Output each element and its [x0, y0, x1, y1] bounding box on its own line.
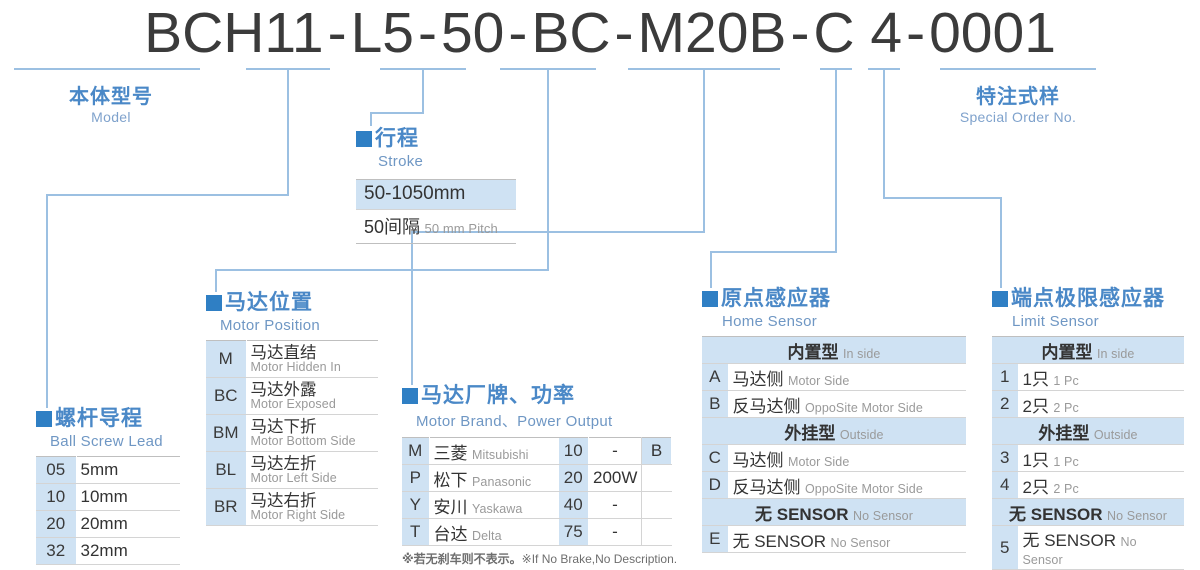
limit-sensor-heading: 端点极限感应器	[992, 282, 1184, 312]
limit-sensor-group-label: 外挂型 Outside	[992, 418, 1184, 445]
motor-brand-code: Y	[402, 492, 429, 519]
section-home-sensor: 原点感应器 Home Sensor 内置型 In sideA马达侧 Motor …	[702, 282, 966, 553]
home-sensor-code: B	[702, 391, 728, 418]
motor-brand-footnote-en: ※If No Brake,No Description.	[522, 552, 677, 566]
code-segment-model: BCH11	[144, 0, 324, 66]
limit-sensor-code: 2	[992, 391, 1018, 418]
code-segment-stroke: 50	[441, 0, 504, 66]
motor-position-code: BR	[206, 489, 246, 526]
code-separator: -	[786, 0, 813, 66]
table-row[interactable]: E无 SENSOR No Sensor	[702, 526, 966, 553]
table-row[interactable]: A马达侧 Motor Side	[702, 364, 966, 391]
code-separator: -	[902, 0, 929, 66]
stroke-pitch-row: 50间隔 50 mm Pitch	[356, 210, 516, 244]
home-sensor-desc: 无 SENSOR No Sensor	[728, 526, 966, 553]
code-separator: -	[324, 0, 351, 66]
limit-sensor-desc: 1只 1 Pc	[1018, 364, 1184, 391]
home-sensor-code: C	[702, 445, 728, 472]
stroke-label-en: Stroke	[378, 153, 516, 170]
table-banner-row: 外挂型 Outside	[992, 418, 1184, 445]
motor-power-code: 75	[559, 519, 589, 546]
motor-position-code: BC	[206, 378, 246, 415]
table-row[interactable]: 1010mm	[36, 484, 180, 511]
motor-position-label-en: Motor Position	[220, 317, 378, 334]
motor-power-code: 40	[559, 492, 589, 519]
table-row[interactable]: B反马达侧 OppoSite Motor Side	[702, 391, 966, 418]
table-banner-row: 内置型 In side	[702, 337, 966, 364]
model-label-en: Model	[36, 109, 186, 125]
home-sensor-group-label: 无 SENSOR No Sensor	[702, 499, 966, 526]
table-row[interactable]: 3232mm	[36, 538, 180, 565]
special-order-label-cn: 特注式样	[940, 80, 1096, 109]
motor-brake-code	[642, 492, 672, 519]
limit-sensor-code: 3	[992, 445, 1018, 472]
motor-brand-code: T	[402, 519, 429, 546]
stroke-label-cn: 行程	[375, 127, 419, 150]
motor-position-code: BM	[206, 415, 246, 452]
home-sensor-label-en: Home Sensor	[722, 313, 966, 330]
motor-brand-name: 安川 Yaskawa	[429, 492, 559, 519]
section-special-order: 特注式样 Special Order No.	[940, 80, 1096, 125]
ball-screw-lead-table: 055mm1010mm2020mm3232mm	[36, 456, 180, 565]
motor-position-heading: 马达位置	[206, 286, 378, 316]
home-sensor-label-cn: 原点感应器	[721, 287, 831, 310]
home-sensor-table: 内置型 In sideA马达侧 Motor SideB反马达侧 OppoSite…	[702, 336, 966, 553]
table-row[interactable]: P松下 Panasonic20200W	[402, 465, 672, 492]
motor-position-desc: 马达直结Motor Hidden In	[246, 341, 378, 378]
limit-sensor-code: 4	[992, 472, 1018, 499]
motor-power-value: -	[589, 519, 642, 546]
section-motor-position: 马达位置 Motor Position M马达直结Motor Hidden In…	[206, 286, 378, 526]
motor-brand-table: M三菱 Mitsubishi10-BP松下 Panasonic20200WY安川…	[402, 437, 672, 546]
home-sensor-desc: 反马达侧 OppoSite Motor Side	[728, 472, 966, 499]
table-row[interactable]: 5无 SENSOR No Sensor	[992, 526, 1184, 570]
lead-value: 20mm	[76, 511, 180, 538]
special-order-label-en: Special Order No.	[940, 109, 1096, 125]
square-bullet-icon	[402, 388, 418, 404]
table-row[interactable]: 42只 2 Pc	[992, 472, 1184, 499]
motor-brand-name: 台达 Delta	[429, 519, 559, 546]
limit-sensor-code: 5	[992, 526, 1018, 570]
lead-code: 20	[36, 511, 76, 538]
motor-power-value: 200W	[589, 465, 642, 492]
section-ball-screw-lead: 螺杆导程 Ball Screw Lead 055mm1010mm2020mm32…	[36, 402, 180, 565]
home-sensor-desc: 反马达侧 OppoSite Motor Side	[728, 391, 966, 418]
motor-brand-name: 松下 Panasonic	[429, 465, 559, 492]
table-row[interactable]: D反马达侧 OppoSite Motor Side	[702, 472, 966, 499]
product-code-diagram: BCH11 - L5 - 50 - BC - M20B - C 4 - 0001	[0, 0, 1200, 570]
stroke-pitch-en: 50 mm Pitch	[424, 221, 497, 236]
lead-value: 5mm	[76, 457, 180, 484]
table-row[interactable]: M马达直结Motor Hidden In	[206, 341, 378, 378]
table-row[interactable]: BL马达左折Motor Left Side	[206, 452, 378, 489]
home-sensor-group-label: 外挂型 Outside	[702, 418, 966, 445]
table-row[interactable]: 055mm	[36, 457, 180, 484]
motor-position-desc: 马达右折Motor Right Side	[246, 489, 378, 526]
lead-code: 05	[36, 457, 76, 484]
home-sensor-group-label: 内置型 In side	[702, 337, 966, 364]
motor-position-desc: 马达外露Motor Exposed	[246, 378, 378, 415]
motor-power-value: -	[589, 438, 642, 465]
table-row[interactable]: T台达 Delta75-	[402, 519, 672, 546]
square-bullet-icon	[992, 291, 1008, 307]
motor-brand-code: P	[402, 465, 429, 492]
code-separator: -	[611, 0, 638, 66]
motor-brake-code	[642, 519, 672, 546]
lead-value: 32mm	[76, 538, 180, 565]
ball-screw-lead-label-cn: 螺杆导程	[55, 407, 143, 430]
code-segment-special-order: 0001	[929, 0, 1056, 66]
square-bullet-icon	[206, 295, 222, 311]
section-limit-sensor: 端点极限感应器 Limit Sensor 内置型 In side11只 1 Pc…	[992, 282, 1184, 570]
motor-position-label-cn: 马达位置	[225, 291, 313, 314]
home-sensor-heading: 原点感应器	[702, 282, 966, 312]
motor-brand-footnote: ※若无刹车则不表示。※If No Brake,No Description.	[402, 550, 677, 567]
stroke-range: 50-1050mm	[356, 180, 516, 210]
motor-brake-code: B	[642, 438, 672, 465]
motor-brand-footnote-cn: ※若无刹车则不表示。	[402, 552, 522, 566]
limit-sensor-code: 1	[992, 364, 1018, 391]
stroke-table: 50-1050mm 50间隔 50 mm Pitch	[356, 179, 516, 244]
code-segment-motor-position: BC	[531, 0, 610, 66]
lead-code: 32	[36, 538, 76, 565]
table-row[interactable]: M三菱 Mitsubishi10-B	[402, 438, 672, 465]
motor-position-code: M	[206, 341, 246, 378]
limit-sensor-desc: 2只 2 Pc	[1018, 472, 1184, 499]
motor-power-value: -	[589, 492, 642, 519]
ball-screw-lead-heading: 螺杆导程	[36, 402, 180, 432]
code-segment-motor-brand: M20B	[638, 0, 787, 66]
motor-brand-name: 三菱 Mitsubishi	[429, 438, 559, 465]
limit-sensor-desc: 1只 1 Pc	[1018, 445, 1184, 472]
home-sensor-code: E	[702, 526, 728, 553]
home-sensor-desc: 马达侧 Motor Side	[728, 364, 966, 391]
table-row[interactable]: BR马达右折Motor Right Side	[206, 489, 378, 526]
table-banner-row: 无 SENSOR No Sensor	[702, 499, 966, 526]
code-separator: -	[414, 0, 441, 66]
square-bullet-icon	[702, 291, 718, 307]
table-banner-row: 无 SENSOR No Sensor	[992, 499, 1184, 526]
table-row[interactable]: C马达侧 Motor Side	[702, 445, 966, 472]
section-motor-brand: 马达厂牌、功率 Motor Brand、Power Output M三菱 Mit…	[402, 379, 677, 567]
square-bullet-icon	[36, 411, 52, 427]
motor-brand-label-en: Motor Brand、Power Output	[416, 410, 677, 431]
square-bullet-icon	[356, 131, 372, 147]
motor-brake-code	[642, 465, 672, 492]
table-row[interactable]: 31只 1 Pc	[992, 445, 1184, 472]
section-stroke: 行程 Stroke 50-1050mm 50间隔 50 mm Pitch	[356, 122, 516, 244]
section-model: 本体型号 Model	[36, 80, 186, 125]
model-label-cn: 本体型号	[36, 80, 186, 109]
limit-sensor-label-en: Limit Sensor	[1012, 313, 1184, 330]
table-row[interactable]: 2020mm	[36, 511, 180, 538]
home-sensor-code: A	[702, 364, 728, 391]
code-segment-lead: L5	[351, 0, 414, 66]
motor-power-code: 20	[559, 465, 589, 492]
stroke-pitch-cn: 50间隔	[364, 217, 420, 237]
limit-sensor-label-cn: 端点极限感应器	[1011, 287, 1165, 310]
limit-sensor-desc: 2只 2 Pc	[1018, 391, 1184, 418]
motor-power-code: 10	[559, 438, 589, 465]
motor-brand-heading: 马达厂牌、功率	[402, 379, 677, 409]
motor-brand-code: M	[402, 438, 429, 465]
motor-position-desc: 马达下折Motor Bottom Side	[246, 415, 378, 452]
limit-sensor-group-label: 无 SENSOR No Sensor	[992, 499, 1184, 526]
code-segment-sensors: C 4	[813, 0, 902, 66]
home-sensor-desc: 马达侧 Motor Side	[728, 445, 966, 472]
lead-value: 10mm	[76, 484, 180, 511]
home-sensor-code: D	[702, 472, 728, 499]
table-row[interactable]: 11只 1 Pc	[992, 364, 1184, 391]
table-row[interactable]: Y安川 Yaskawa40-	[402, 492, 672, 519]
stroke-heading: 行程	[356, 122, 516, 152]
motor-position-code: BL	[206, 452, 246, 489]
code-separator: -	[504, 0, 531, 66]
table-row[interactable]: BC马达外露Motor Exposed	[206, 378, 378, 415]
table-banner-row: 外挂型 Outside	[702, 418, 966, 445]
limit-sensor-table: 内置型 In side11只 1 Pc22只 2 Pc外挂型 Outside31…	[992, 336, 1184, 570]
lead-code: 10	[36, 484, 76, 511]
product-code-row: BCH11 - L5 - 50 - BC - M20B - C 4 - 0001	[0, 0, 1200, 66]
table-row[interactable]: BM马达下折Motor Bottom Side	[206, 415, 378, 452]
table-banner-row: 内置型 In side	[992, 337, 1184, 364]
table-row[interactable]: 22只 2 Pc	[992, 391, 1184, 418]
motor-brand-label-cn: 马达厂牌、功率	[421, 384, 575, 407]
motor-position-desc: 马达左折Motor Left Side	[246, 452, 378, 489]
limit-sensor-group-label: 内置型 In side	[992, 337, 1184, 364]
ball-screw-lead-label-en: Ball Screw Lead	[50, 433, 180, 450]
motor-position-table: M马达直结Motor Hidden InBC马达外露Motor ExposedB…	[206, 340, 378, 526]
limit-sensor-desc: 无 SENSOR No Sensor	[1018, 526, 1184, 570]
